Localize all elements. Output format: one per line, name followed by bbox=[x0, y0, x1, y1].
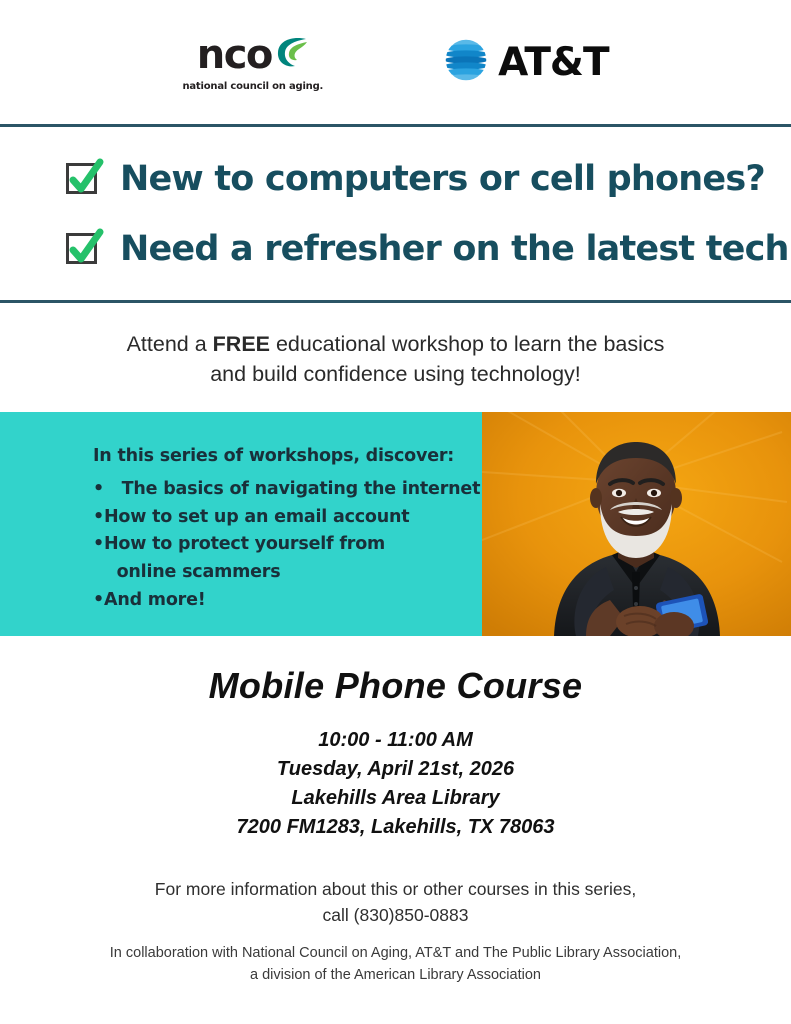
list-item: •How to set up an email account bbox=[93, 504, 482, 532]
att-globe-icon bbox=[443, 37, 489, 88]
workshop-topics-band: In this series of workshops, discover: •… bbox=[0, 412, 791, 636]
headline-group: New to computers or cell phones? Need a … bbox=[0, 127, 791, 300]
logo-bar: nco national council on aging. bbox=[0, 0, 791, 125]
course-time: 10:00 - 11:00 AM bbox=[0, 726, 791, 755]
list-item: •How to protect yourself from bbox=[93, 531, 482, 559]
band-list: • The basics of navigating the internet … bbox=[93, 476, 482, 614]
flyer-page: { "logos": { "ncoa": { "wordmark": "nco"… bbox=[0, 0, 791, 1024]
course-date: Tuesday, April 21st, 2026 bbox=[0, 755, 791, 784]
course-details: 10:00 - 11:00 AM Tuesday, April 21st, 20… bbox=[0, 726, 791, 842]
course-address: 7200 FM1283, Lakehills, TX 78063 bbox=[0, 813, 791, 842]
band-title: In this series of workshops, discover: bbox=[93, 446, 482, 466]
ncoa-logo: nco national council on aging. bbox=[182, 33, 323, 92]
collab-line-1: In collaboration with National Council o… bbox=[0, 942, 791, 964]
ncoa-wordmark: nco bbox=[197, 36, 272, 74]
checked-checkbox-icon bbox=[66, 161, 102, 197]
collaboration-note: In collaboration with National Council o… bbox=[0, 942, 791, 987]
checked-checkbox-icon bbox=[66, 231, 102, 267]
ncoa-leaf-icon bbox=[273, 33, 309, 75]
course-venue: Lakehills Area Library bbox=[0, 784, 791, 813]
contact-phone: call (830)850-0883 bbox=[0, 902, 791, 928]
contact-info: For more information about this or other… bbox=[0, 876, 791, 929]
att-wordmark: AT&T bbox=[498, 43, 608, 82]
subhead-line-2: and build confidence using technology! bbox=[0, 360, 791, 390]
ncoa-tagline: national council on aging. bbox=[182, 82, 323, 92]
senior-man-with-phone-photo bbox=[482, 412, 791, 636]
contact-line-1: For more information about this or other… bbox=[0, 876, 791, 902]
subhead-text-after: educational workshop to learn the basics bbox=[270, 332, 664, 356]
list-item: online scammers bbox=[93, 559, 482, 587]
subhead-text-before: Attend a bbox=[127, 332, 213, 356]
collab-line-2: a division of the American Library Assoc… bbox=[0, 964, 791, 986]
ncoa-mark: nco bbox=[197, 33, 309, 77]
subhead-free-emphasis: FREE bbox=[213, 332, 270, 356]
subhead: Attend a FREE educational workshop to le… bbox=[0, 330, 791, 389]
headline-text: Need a refresher on the latest tech? bbox=[120, 229, 791, 269]
list-item: •And more! bbox=[93, 587, 482, 615]
headline-text: New to computers or cell phones? bbox=[120, 159, 765, 199]
band-text-column: In this series of workshops, discover: •… bbox=[0, 412, 482, 636]
headline-row: New to computers or cell phones? bbox=[66, 159, 791, 199]
divider-bottom bbox=[0, 300, 791, 303]
att-logo: AT&T bbox=[443, 37, 608, 88]
course-title: Mobile Phone Course bbox=[0, 665, 791, 707]
subhead-line-1: Attend a FREE educational workshop to le… bbox=[0, 330, 791, 360]
headline-row: Need a refresher on the latest tech? bbox=[66, 229, 791, 269]
list-item: • The basics of navigating the internet bbox=[93, 476, 482, 504]
